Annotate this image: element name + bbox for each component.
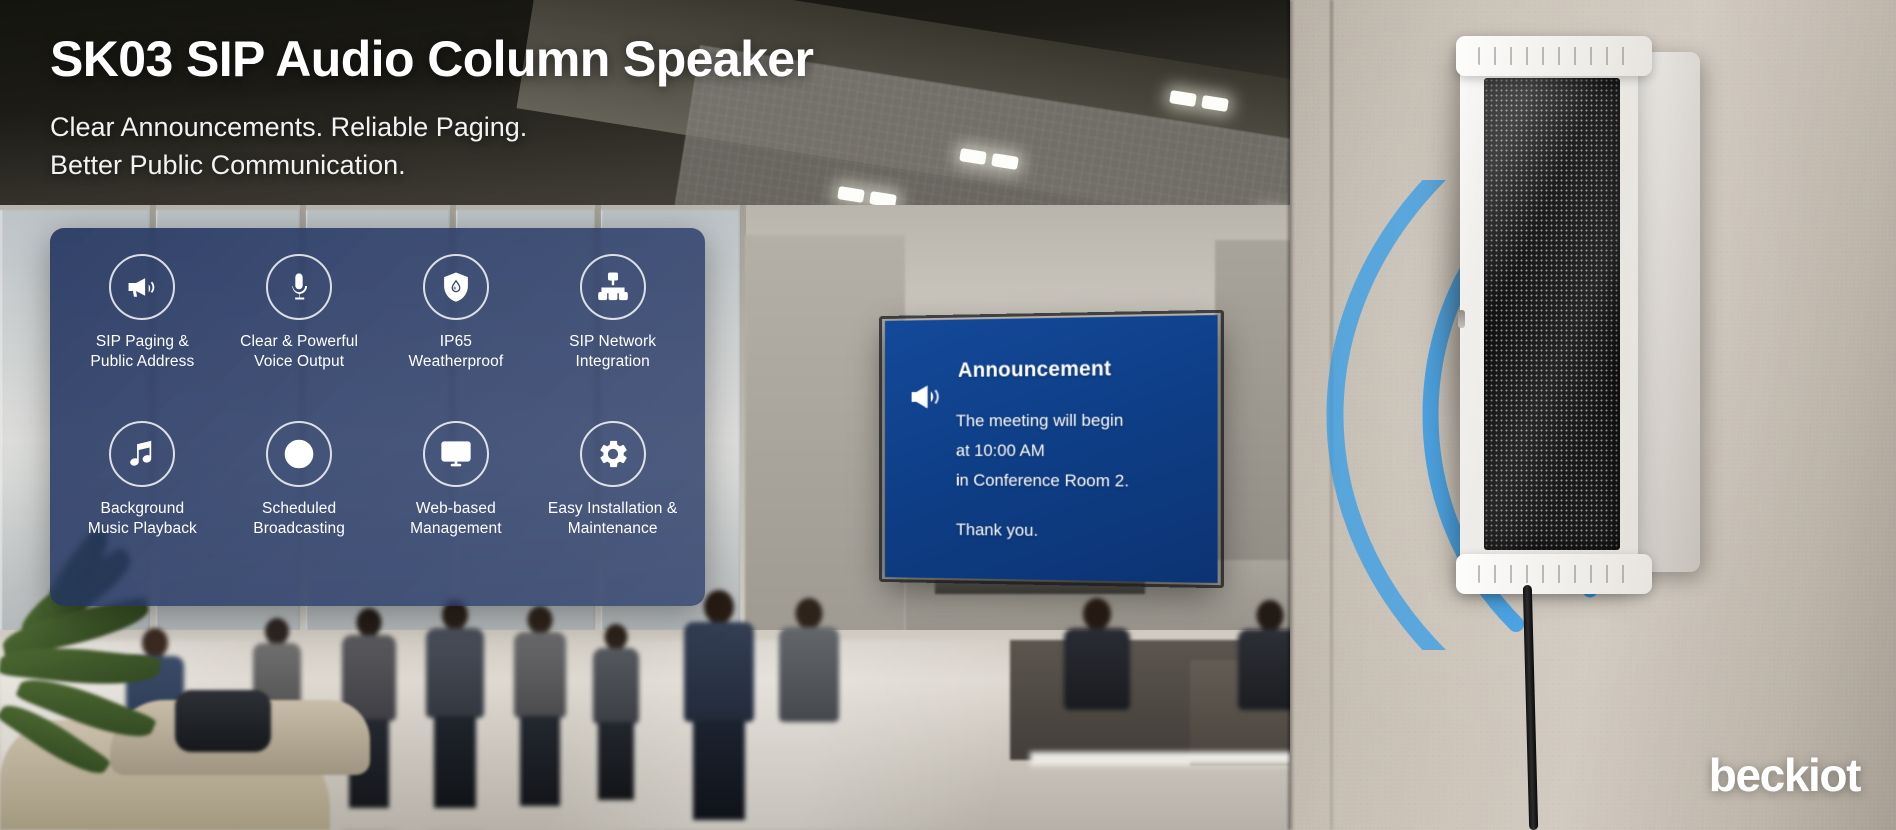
person-figure xyxy=(676,590,762,820)
feature-voice-output[interactable]: Clear & Powerful Voice Output xyxy=(221,254,378,421)
person-figure xyxy=(588,624,644,799)
person-figure xyxy=(1058,598,1136,710)
page-title: SK03 SIP Audio Column Speaker xyxy=(50,30,813,88)
speaker-grille xyxy=(1484,78,1620,550)
music-note-icon xyxy=(109,421,175,487)
speaker-top-cap xyxy=(1456,36,1652,76)
person-figure xyxy=(508,606,572,806)
display-bezel xyxy=(879,310,1224,589)
gear-icon xyxy=(580,421,646,487)
page-subtitle: Clear Announcements. Reliable Paging. Be… xyxy=(50,108,527,185)
feature-background-music[interactable]: Background Music Playback xyxy=(64,421,221,588)
cap-ribs xyxy=(1478,565,1628,583)
feature-grid: SIP Paging & Public Address Clear & Powe… xyxy=(64,254,691,588)
scene-divider xyxy=(1288,0,1293,830)
speaker-front-housing xyxy=(1460,42,1638,587)
feature-label: Clear & Powerful Voice Output xyxy=(240,332,358,373)
feature-label: Background Music Playback xyxy=(88,499,197,540)
desk-light-strip xyxy=(1030,752,1290,766)
feature-panel: SIP Paging & Public Address Clear & Powe… xyxy=(50,228,705,606)
feature-label: Easy Installation & Maintenance xyxy=(548,499,677,540)
brand-logo: beckiot xyxy=(1709,748,1860,802)
feature-label: SIP Network Integration xyxy=(569,332,656,373)
product-banner: Announcement The meeting will begin at 1… xyxy=(0,0,1896,830)
megaphone-icon xyxy=(109,254,175,320)
speaker-bottom-cap xyxy=(1456,554,1652,594)
feature-label: SIP Paging & Public Address xyxy=(90,332,194,373)
shield-drop-icon xyxy=(423,254,489,320)
feature-scheduled-broadcasting[interactable]: Scheduled Broadcasting xyxy=(221,421,378,588)
person-figure xyxy=(420,600,490,808)
feature-sip-network[interactable]: SIP Network Integration xyxy=(534,254,691,421)
feature-label: IP65 Weatherproof xyxy=(408,332,503,373)
feature-ip65-weatherproof[interactable]: IP65 Weatherproof xyxy=(378,254,535,421)
column-speaker xyxy=(1460,42,1690,587)
person-figure xyxy=(1232,600,1290,710)
person-figure xyxy=(772,598,846,816)
speaker-scene: beckiot xyxy=(1290,0,1896,830)
speaker-screw xyxy=(1458,310,1465,328)
monitor-icon xyxy=(423,421,489,487)
feature-sip-paging[interactable]: SIP Paging & Public Address xyxy=(64,254,221,421)
feature-label: Web-based Management xyxy=(410,499,501,540)
feature-label: Scheduled Broadcasting xyxy=(253,499,345,540)
microphone-icon xyxy=(266,254,332,320)
network-tree-icon xyxy=(580,254,646,320)
cap-ribs xyxy=(1478,47,1628,65)
feature-web-management[interactable]: Web-based Management xyxy=(378,421,535,588)
feature-easy-installation[interactable]: Easy Installation & Maintenance xyxy=(534,421,691,588)
clock-icon xyxy=(266,421,332,487)
